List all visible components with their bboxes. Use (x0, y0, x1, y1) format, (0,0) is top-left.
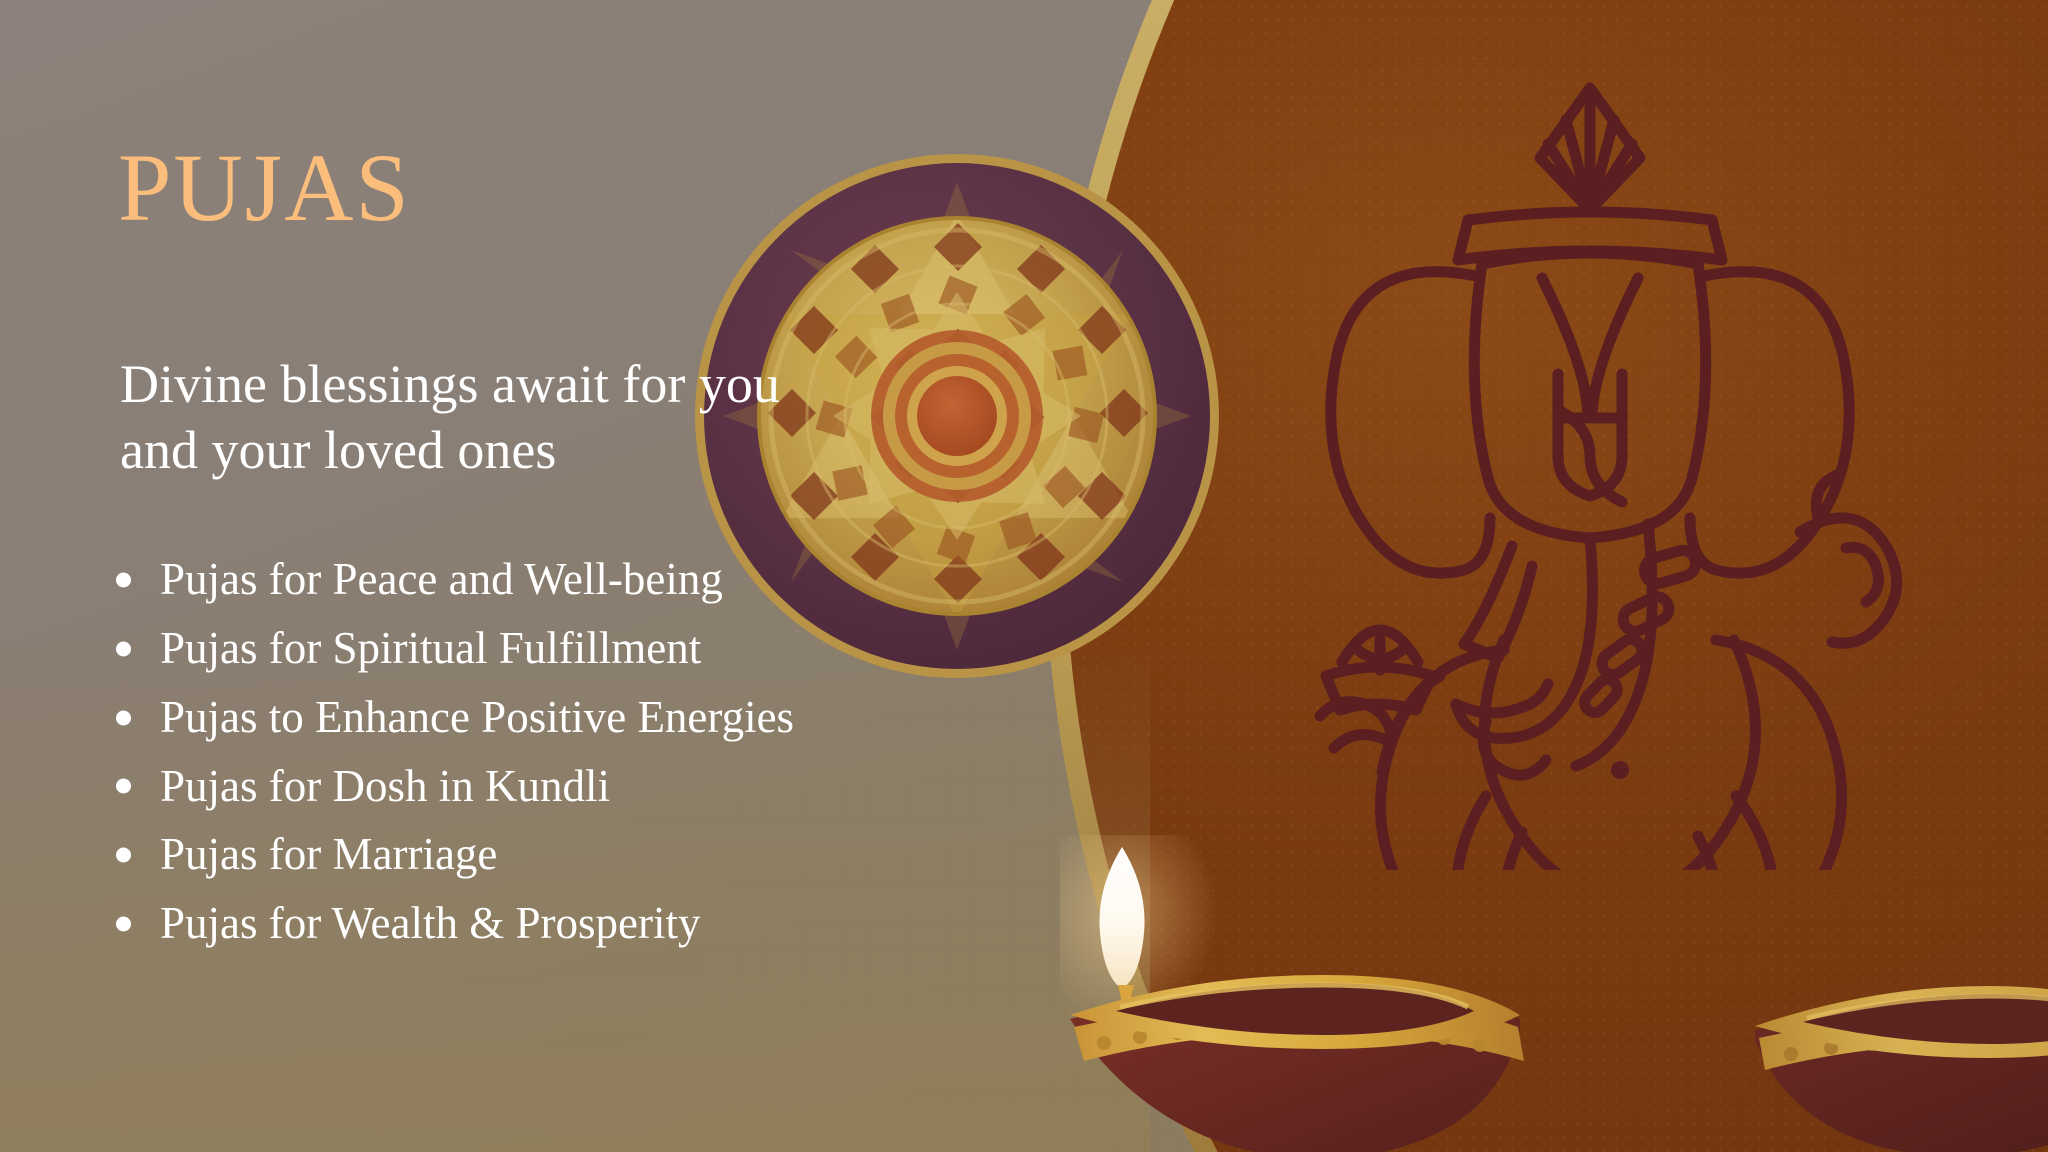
list-item-label: Pujas to Enhance Positive Energies (160, 692, 794, 742)
list-item: Pujas for Marriage (112, 825, 794, 885)
page-title: PUJAS (118, 140, 411, 236)
bullet-dot-icon (116, 917, 131, 932)
list-item-label: Pujas for Wealth & Prosperity (160, 898, 700, 948)
subtitle-line-1: Divine blessings await for you (120, 352, 1060, 418)
diya-lamp-icon (1745, 960, 2048, 1152)
list-item: Pujas to Enhance Positive Energies (112, 688, 794, 748)
text-content-panel: PUJAS Divine blessings await for you and… (0, 0, 1000, 1152)
bullet-dot-icon (116, 641, 131, 656)
list-item-label: Pujas for Spiritual Fulfillment (160, 623, 701, 673)
list-item-label: Pujas for Marriage (160, 829, 497, 879)
puja-list: Pujas for Peace and Well-being Pujas for… (112, 550, 794, 963)
list-item: Pujas for Spiritual Fulfillment (112, 619, 794, 679)
slide-canvas: PUJAS Divine blessings await for you and… (0, 0, 2048, 1152)
ganesha-icon (1290, 80, 1930, 870)
subtitle: Divine blessings await for you and your … (120, 352, 1060, 484)
list-item: Pujas for Wealth & Prosperity (112, 894, 794, 954)
list-item: Pujas for Dosh in Kundli (112, 757, 794, 817)
list-item: Pujas for Peace and Well-being (112, 550, 794, 610)
list-item-label: Pujas for Dosh in Kundli (160, 761, 610, 811)
bullet-dot-icon (116, 848, 131, 863)
bullet-dot-icon (116, 710, 131, 725)
bullet-dot-icon (116, 779, 131, 794)
bullet-dot-icon (116, 572, 131, 587)
subtitle-line-2: and your loved ones (120, 418, 1060, 484)
list-item-label: Pujas for Peace and Well-being (160, 554, 723, 604)
diya-lamp-lit-icon (1060, 835, 1530, 1152)
